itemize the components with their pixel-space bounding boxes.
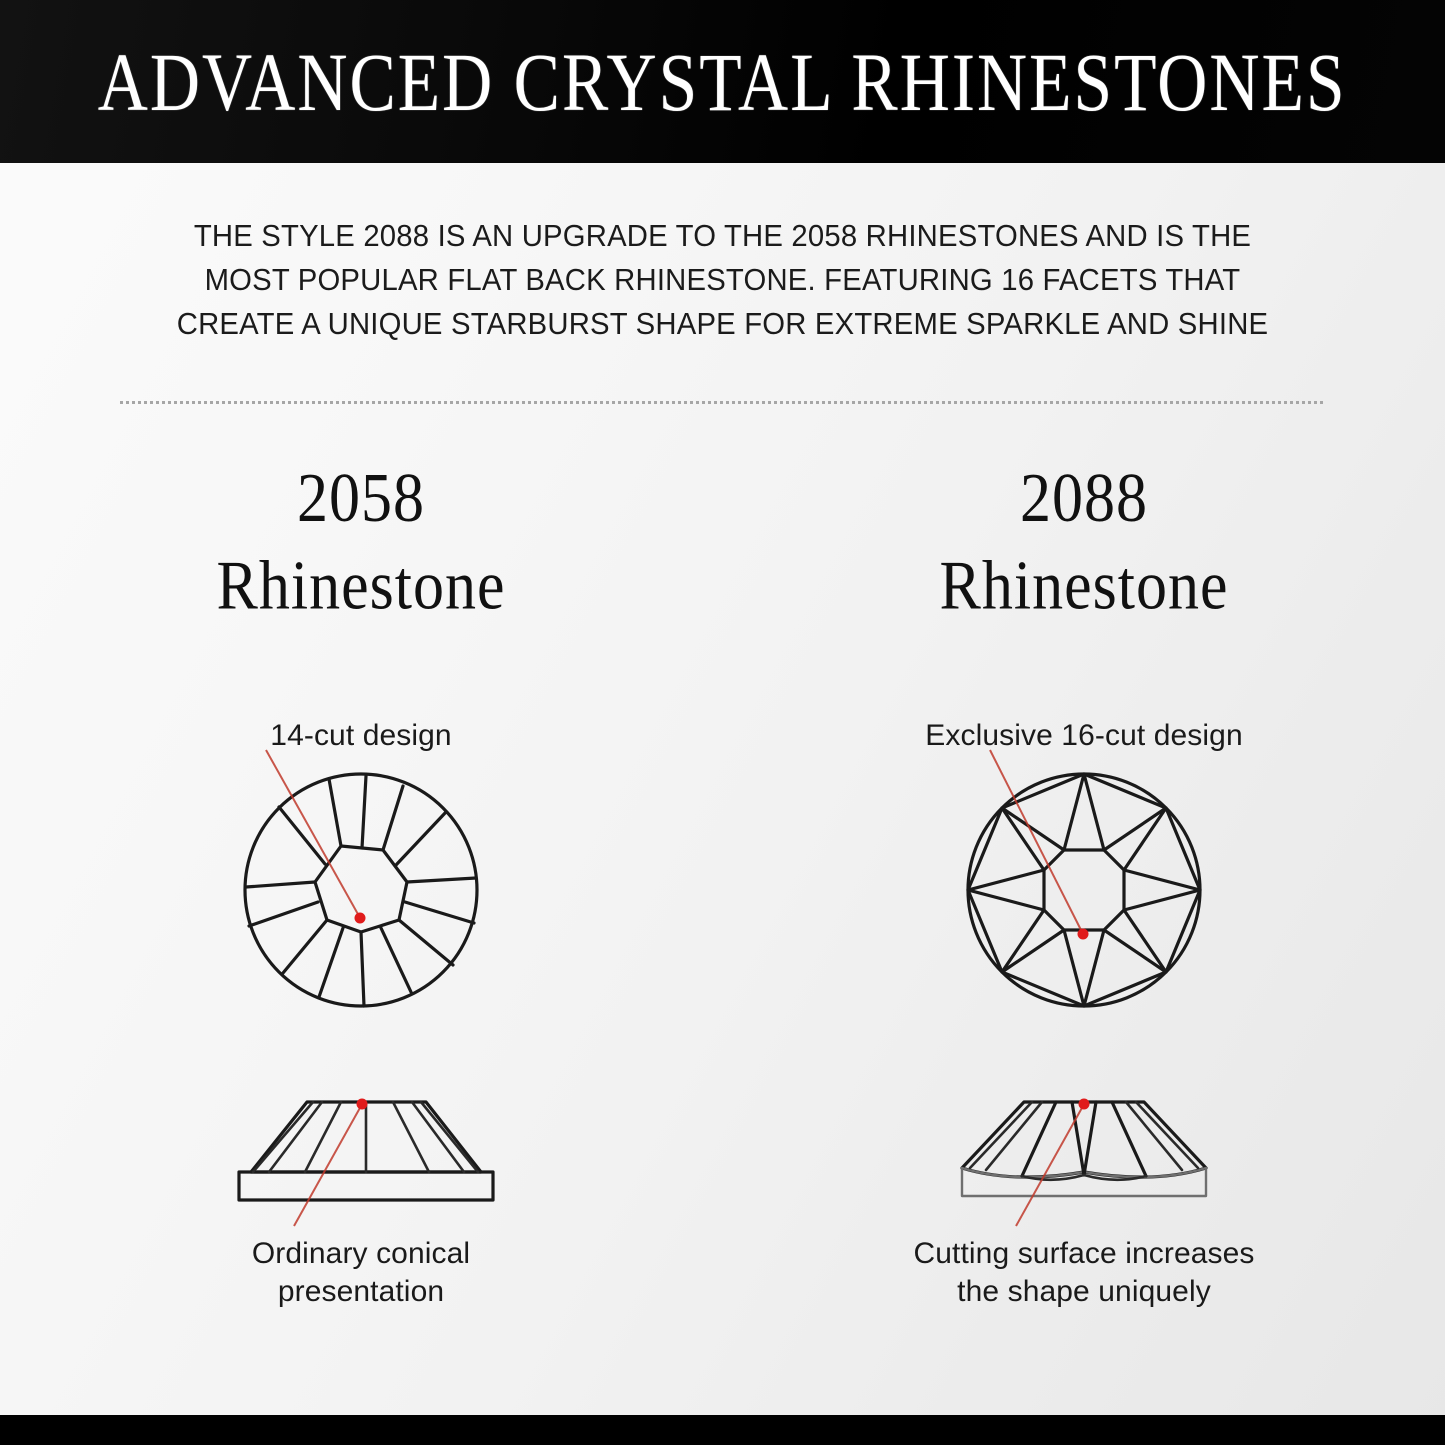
bottom-note-line-1: Ordinary conical bbox=[0, 1235, 722, 1273]
bottom-note-2088: Cutting surface increases the shape uniq… bbox=[723, 1235, 1445, 1311]
round-16-cut-starburst-icon bbox=[954, 760, 1214, 1020]
top-note-2088: Exclusive 16-cut design bbox=[723, 717, 1445, 755]
top-note-2058: 14-cut design bbox=[0, 717, 722, 755]
side-view-diagram-2088 bbox=[723, 1080, 1445, 1225]
footer-band bbox=[0, 1415, 1445, 1445]
conical-profile-icon bbox=[221, 1080, 501, 1210]
top-view-diagram-2058 bbox=[0, 760, 722, 1040]
intro-paragraph: THE STYLE 2088 IS AN UPGRADE TO THE 2058… bbox=[98, 214, 1347, 346]
intro-line-2: MOST POPULAR FLAT BACK RHINESTONE. FEATU… bbox=[98, 258, 1347, 302]
side-view-diagram-2058 bbox=[0, 1080, 722, 1225]
column-title-2058: 2058 Rhinestone bbox=[0, 455, 722, 630]
intro-line-3: CREATE A UNIQUE STARBURST SHAPE FOR EXTR… bbox=[98, 302, 1347, 346]
column-title-word: Rhinestone bbox=[0, 542, 722, 629]
round-14-cut-facet-icon bbox=[231, 760, 491, 1020]
column-2058: 2058 Rhinestone 14-cut design bbox=[0, 455, 722, 611]
column-title-number: 2088 bbox=[723, 455, 1445, 542]
infographic-page: ADVANCED CRYSTAL RHINESTONES THE STYLE 2… bbox=[0, 0, 1445, 1445]
bottom-note-line-2: presentation bbox=[0, 1273, 722, 1311]
column-title-number: 2058 bbox=[0, 455, 722, 542]
comparison-columns: 2058 Rhinestone 14-cut design bbox=[0, 455, 1445, 1355]
bottom-note-line-1: Cutting surface increases bbox=[723, 1235, 1445, 1273]
page-title: ADVANCED CRYSTAL RHINESTONES bbox=[98, 40, 1347, 123]
starburst-profile-icon bbox=[944, 1080, 1224, 1210]
intro-line-1: THE STYLE 2088 IS AN UPGRADE TO THE 2058… bbox=[98, 214, 1347, 258]
bottom-note-2058: Ordinary conical presentation bbox=[0, 1235, 722, 1311]
column-title-word: Rhinestone bbox=[723, 542, 1445, 629]
top-view-diagram-2088 bbox=[723, 760, 1445, 1040]
bottom-note-line-2: the shape uniquely bbox=[723, 1273, 1445, 1311]
dotted-divider bbox=[120, 401, 1326, 404]
column-2088: 2088 Rhinestone Exclusive 16-cut design bbox=[723, 455, 1445, 611]
header-band: ADVANCED CRYSTAL RHINESTONES bbox=[0, 0, 1445, 163]
column-title-2088: 2088 Rhinestone bbox=[723, 455, 1445, 630]
